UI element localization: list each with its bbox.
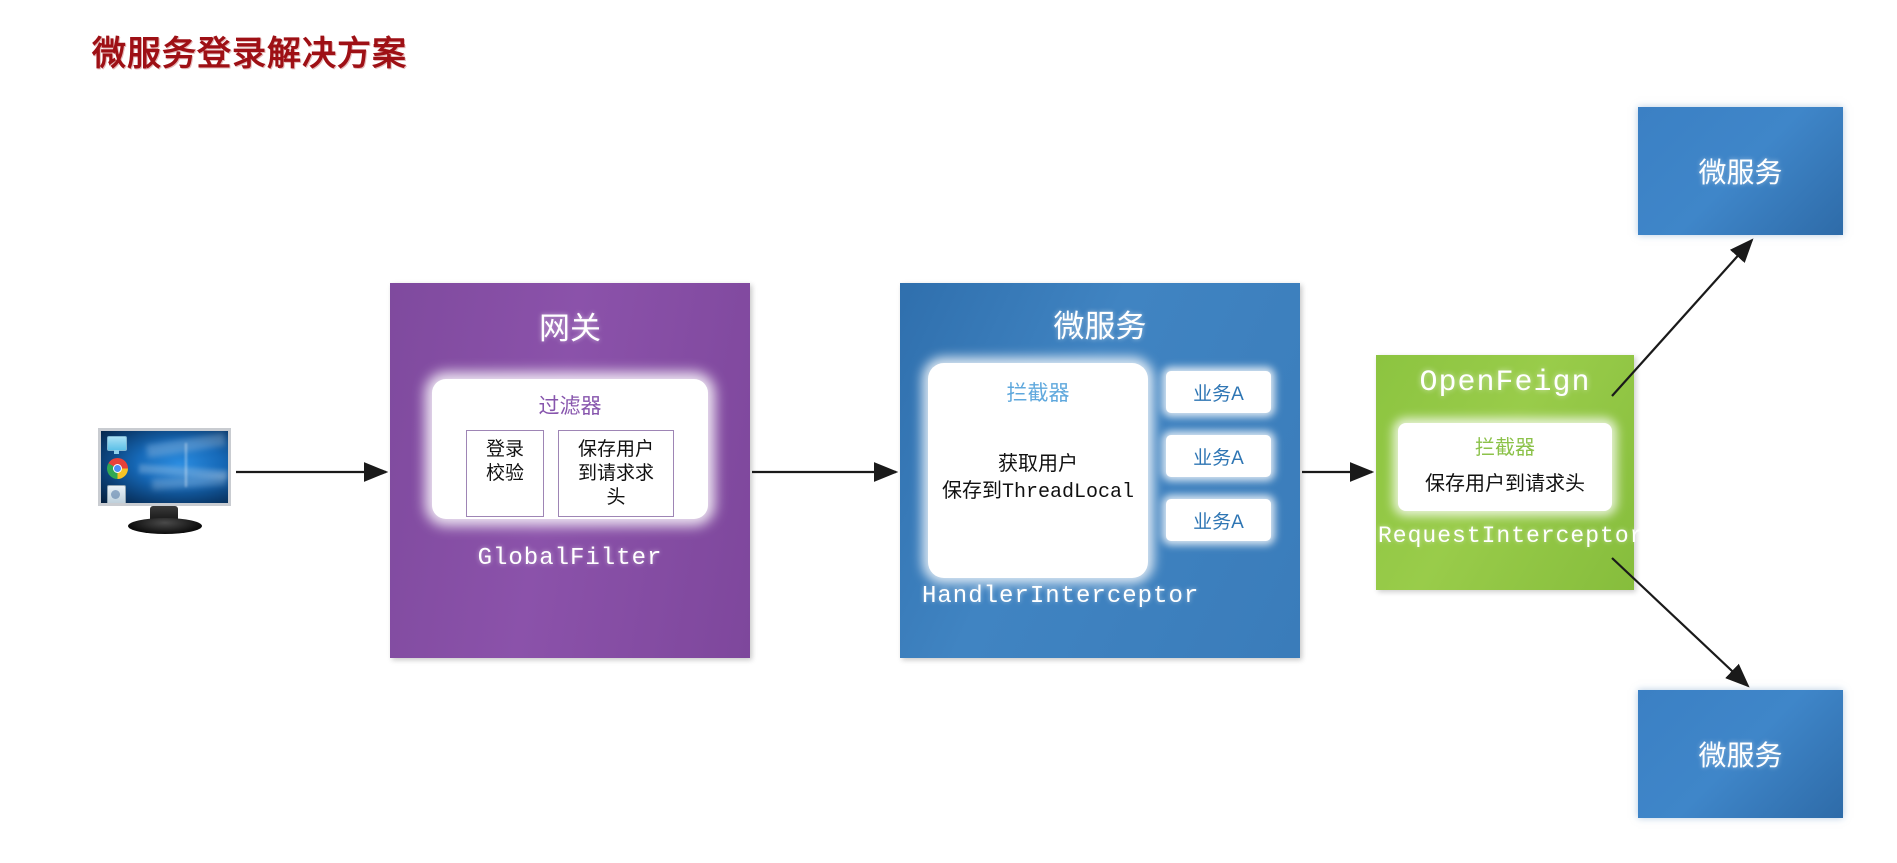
client-monitor	[98, 428, 236, 531]
filter-subbox-line1: 保存用户	[569, 438, 663, 462]
feign-interceptor-panel: 拦截器 保存用户到请求头	[1398, 423, 1612, 511]
microservice-label: 微服务	[1698, 734, 1782, 774]
openfeign-box: OpenFeign 拦截器 保存用户到请求头 RequestIntercepto…	[1376, 355, 1634, 590]
computer-icon	[107, 436, 127, 451]
filter-subbox-group: 登录 校验 保存用户 到请求求头	[432, 430, 708, 517]
microservice-box-bottom-right: 微服务	[1638, 690, 1843, 818]
gateway-box: 网关 过滤器 登录 校验 保存用户 到请求求头 GlobalFilter	[390, 283, 750, 658]
gateway-title: 网关	[390, 303, 750, 348]
global-filter-label: GlobalFilter	[390, 545, 750, 572]
interceptor-panel: 拦截器 获取用户 保存到ThreadLocal	[928, 363, 1148, 578]
interceptor-description: 获取用户 保存到ThreadLocal	[928, 451, 1148, 506]
page-title: 微服务登录解决方案	[92, 26, 407, 75]
monitor-base	[128, 518, 202, 534]
filter-label: 过滤器	[432, 379, 708, 420]
filter-subbox-save-user-header: 保存用户 到请求求头	[558, 430, 674, 517]
feign-interceptor-description: 保存用户到请求头	[1398, 460, 1612, 496]
microservice-title: 微服务	[900, 301, 1300, 346]
interceptor-label: 拦截器	[928, 363, 1148, 407]
handler-interceptor-label: HandlerInterceptor	[922, 583, 1199, 610]
business-box: 业务A	[1166, 371, 1271, 413]
filter-subbox-line2: 到请求求头	[569, 462, 663, 510]
interceptor-line1: 获取用户	[928, 451, 1148, 478]
microservice-box: 微服务 拦截器 获取用户 保存到ThreadLocal 业务A 业务A 业务A …	[900, 283, 1300, 658]
openfeign-title: OpenFeign	[1376, 366, 1634, 400]
wallpaper-pane	[185, 443, 187, 488]
business-box: 业务A	[1166, 499, 1271, 541]
recycle-bin-icon	[107, 485, 126, 506]
gateway-filter-panel: 过滤器 登录 校验 保存用户 到请求求头	[432, 379, 708, 519]
filter-subbox-line1: 登录	[477, 438, 533, 462]
microservice-label: 微服务	[1698, 151, 1782, 191]
request-interceptor-label: RequestInterceptor	[1378, 523, 1644, 549]
monitor-screen	[98, 428, 231, 506]
filter-subbox-line2: 校验	[477, 462, 533, 486]
microservice-box-top-right: 微服务	[1638, 107, 1843, 235]
business-box: 业务A	[1166, 435, 1271, 477]
business-box-group: 业务A 业务A 业务A	[1166, 371, 1271, 563]
interceptor-line2-mono: ThreadLocal	[1002, 481, 1134, 504]
filter-subbox-login-check: 登录 校验	[466, 430, 544, 517]
feign-interceptor-label: 拦截器	[1398, 423, 1612, 460]
wallpaper-ray	[151, 473, 225, 489]
chrome-icon	[107, 458, 128, 479]
interceptor-line2: 保存到ThreadLocal	[928, 478, 1148, 506]
interceptor-line2-prefix: 保存到	[942, 480, 1002, 502]
